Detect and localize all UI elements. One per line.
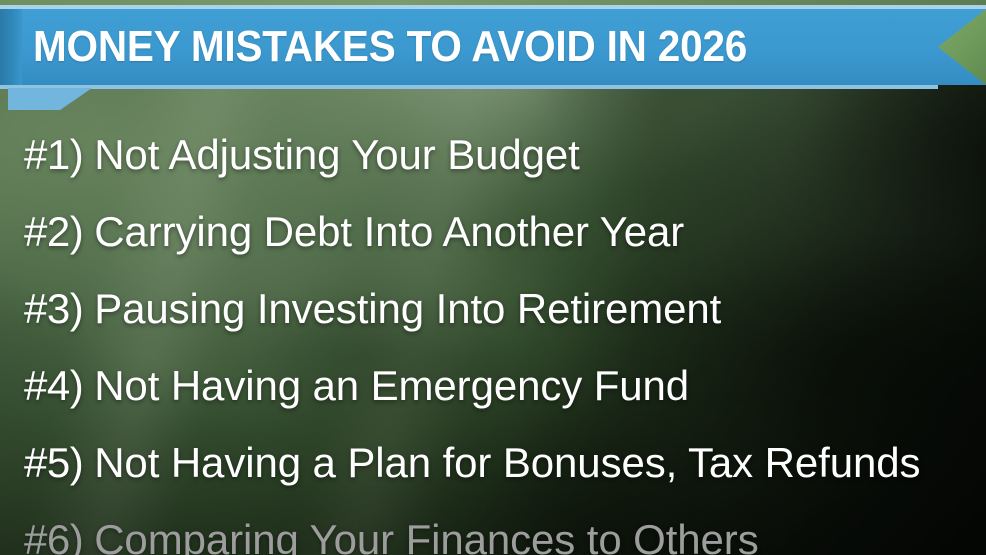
list-item-label: Comparing Your Finances to Others (94, 501, 758, 555)
ribbon-left-fold (0, 9, 22, 85)
list-item-number: #4) (24, 347, 83, 424)
list-item-number: #6) (24, 501, 83, 555)
list-item: #4)Not Having an Emergency Fund (0, 347, 986, 424)
broadcast-graphic-screen: MONEY MISTAKES TO AVOID IN 2026 #1)Not A… (0, 0, 986, 555)
list-item: #3)Pausing Investing Into Retirement (0, 270, 986, 347)
title-ribbon: MONEY MISTAKES TO AVOID IN 2026 (0, 0, 986, 110)
list-item-number: #5) (24, 424, 83, 501)
page-title: MONEY MISTAKES TO AVOID IN 2026 (33, 9, 747, 85)
mistakes-list: #1)Not Adjusting Your Budget#2)Carrying … (0, 116, 986, 555)
ribbon-bottom-hairline (0, 85, 938, 89)
list-item: #2)Carrying Debt Into Another Year (0, 193, 986, 270)
list-item-label: Not Adjusting Your Budget (94, 116, 580, 193)
list-item-number: #2) (24, 193, 83, 270)
list-item-label: Pausing Investing Into Retirement (94, 270, 721, 347)
list-item-number: #1) (24, 116, 83, 193)
list-item-label: Not Having a Plan for Bonuses, Tax Refun… (94, 424, 920, 501)
list-item: #6)Comparing Your Finances to Others (0, 501, 986, 555)
list-item: #1)Not Adjusting Your Budget (0, 116, 986, 193)
ribbon-left-tail (8, 88, 92, 110)
list-item-label: Not Having an Emergency Fund (94, 347, 689, 424)
list-item-number: #3) (24, 270, 83, 347)
list-item-label: Carrying Debt Into Another Year (94, 193, 684, 270)
list-item: #5)Not Having a Plan for Bonuses, Tax Re… (0, 424, 986, 501)
